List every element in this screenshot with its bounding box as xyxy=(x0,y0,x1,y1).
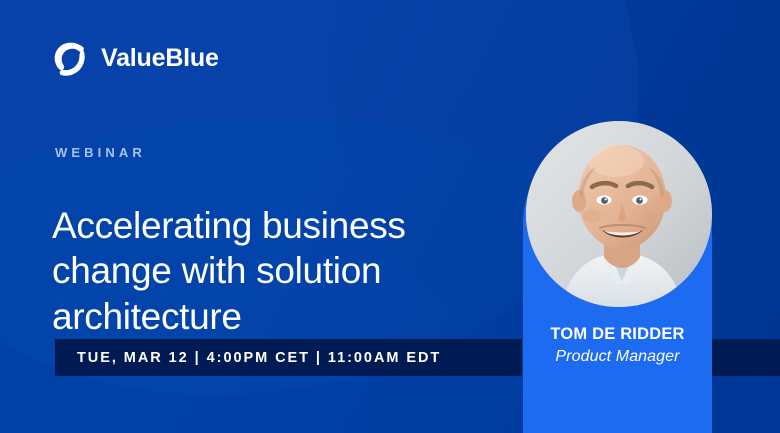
date-bar-tail xyxy=(712,339,780,376)
webinar-promo-banner: ValueBlue WEBINAR Accelerating business … xyxy=(0,0,780,433)
eyebrow-label: WEBINAR xyxy=(55,146,146,159)
speaker-headshot-illustration-icon xyxy=(526,121,712,307)
avatar xyxy=(526,121,712,307)
brand-name: ValueBlue xyxy=(101,46,219,71)
speaker-role: Product Manager xyxy=(523,348,712,366)
valueblue-wave-mark-icon xyxy=(50,38,90,78)
date-bar: TUE, MAR 12 | 4:00PM CET | 11:00AM EDT xyxy=(55,339,522,376)
page-title: Accelerating business change with soluti… xyxy=(52,203,492,340)
date-time-text: TUE, MAR 12 | 4:00PM CET | 11:00AM EDT xyxy=(55,350,441,366)
brand-logo[interactable]: ValueBlue xyxy=(50,38,219,78)
speaker-name: TOM DE RIDDER xyxy=(523,325,712,344)
